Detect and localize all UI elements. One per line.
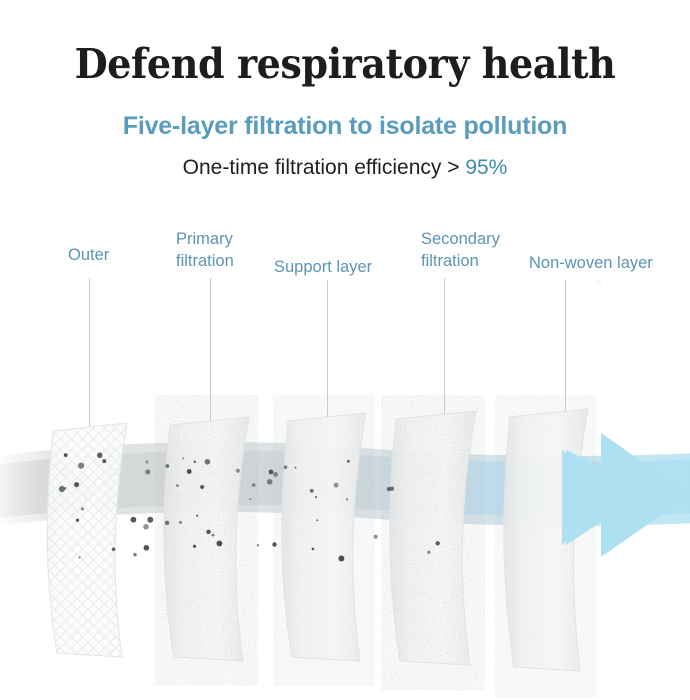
- five-layer-mask-diagram: [0, 395, 690, 700]
- layer-label-secondary-filtration: Secondary filtration: [421, 228, 500, 272]
- efficiency-tagline-prefix: One-time filtration efficiency >: [183, 156, 466, 179]
- scan-artifact: · ∕ ·ɐ: [580, 276, 604, 286]
- mask-layer-support: [282, 413, 366, 661]
- efficiency-tagline: One-time filtration efficiency > 95%: [0, 155, 690, 181]
- mask-layer-primary-filtration: [164, 417, 249, 661]
- layer-label-support-layer: Support layer: [274, 256, 372, 278]
- page-subtitle: Five-layer filtration to isolate polluti…: [0, 111, 690, 141]
- mask-layer-non-woven: [504, 409, 588, 671]
- mask-layer-outer: [47, 423, 127, 657]
- layer-label-outer: Outer: [68, 244, 109, 266]
- page-title: Defend respiratory health: [24, 40, 666, 88]
- illustration-canvas: Defend respiratory health Five-layer fil…: [0, 0, 690, 700]
- layer-label-non-woven-layer: Non-woven layer: [529, 252, 653, 274]
- layer-label-primary-filtration: Primary filtration: [176, 228, 234, 272]
- efficiency-tagline-value: 95%: [465, 156, 507, 179]
- mask-layer-secondary-filtration: [390, 411, 476, 665]
